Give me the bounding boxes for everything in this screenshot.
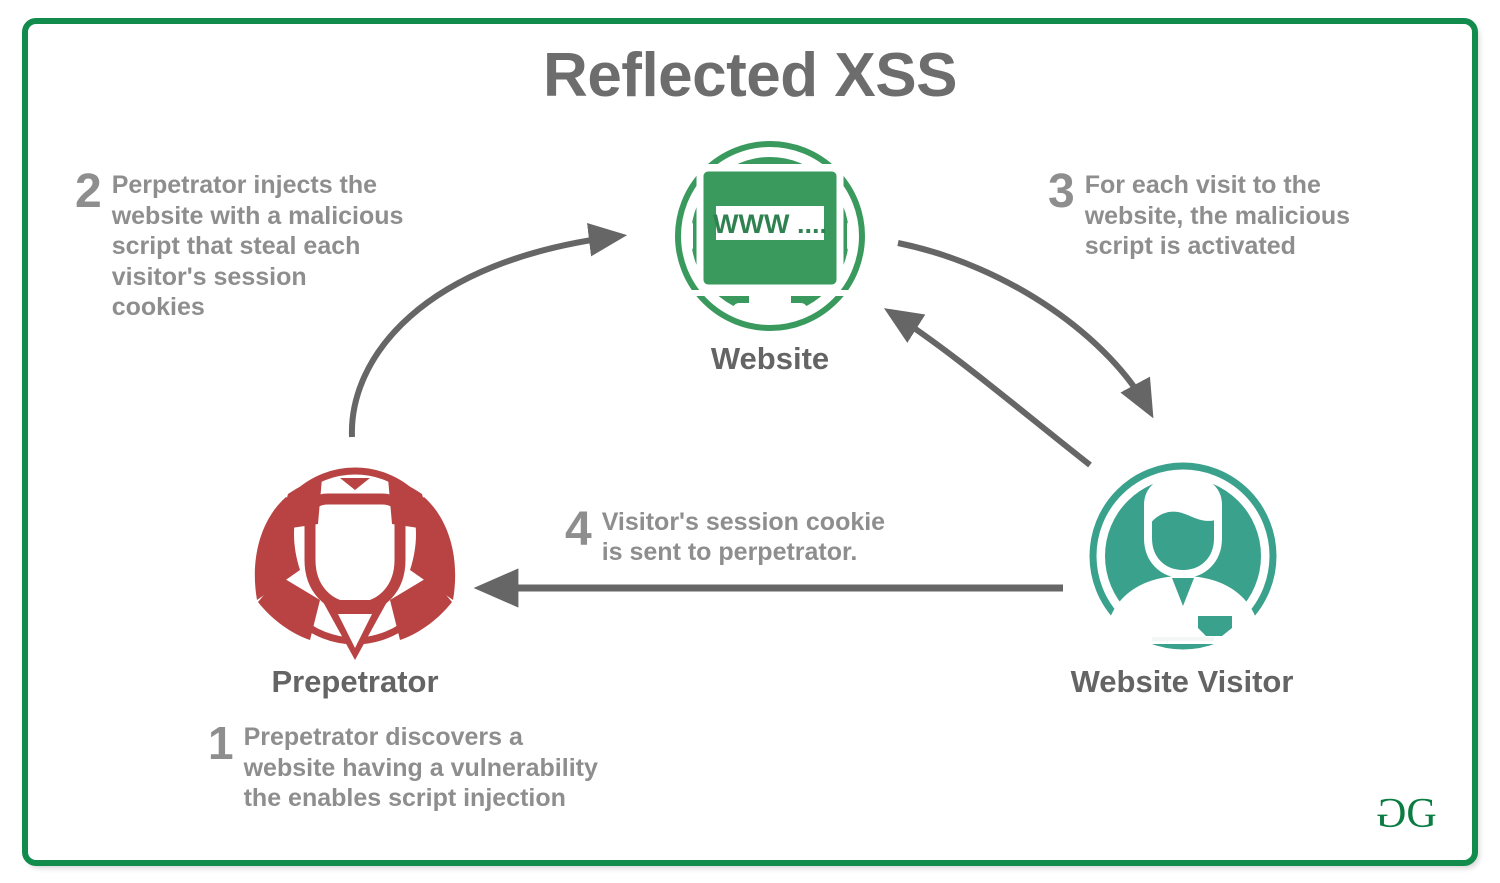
diagram-canvas: Reflected XSS bbox=[0, 0, 1500, 883]
step-1-text: Prepetrator discovers a website having a… bbox=[244, 722, 598, 814]
step-2: 2 Perpetrator injects the website with a… bbox=[75, 170, 403, 323]
node-label-visitor: Website Visitor bbox=[1012, 664, 1352, 700]
step-1: 1 Prepetrator discovers a website having… bbox=[208, 722, 598, 814]
step-4-text: Visitor's session cookie is sent to perp… bbox=[602, 508, 885, 567]
step-1-number: 1 bbox=[208, 722, 234, 764]
geeksforgeeks-logo: GG bbox=[1378, 793, 1435, 835]
page-title: Reflected XSS bbox=[0, 40, 1500, 111]
step-4-number: 4 bbox=[565, 508, 592, 552]
logo-mirrored-g: G bbox=[1378, 793, 1406, 835]
node-label-perpetrator: Prepetrator bbox=[185, 664, 525, 700]
step-3-number: 3 bbox=[1048, 170, 1075, 214]
step-3-text: For each visit to the website, the malic… bbox=[1085, 170, 1350, 262]
step-3: 3 For each visit to the website, the mal… bbox=[1048, 170, 1350, 262]
logo-g: G bbox=[1406, 791, 1434, 837]
node-label-website: Website bbox=[600, 341, 940, 377]
step-4: 4 Visitor's session cookie is sent to pe… bbox=[565, 508, 885, 567]
step-2-text: Perpetrator injects the website with a m… bbox=[112, 170, 404, 323]
step-2-number: 2 bbox=[75, 170, 102, 214]
